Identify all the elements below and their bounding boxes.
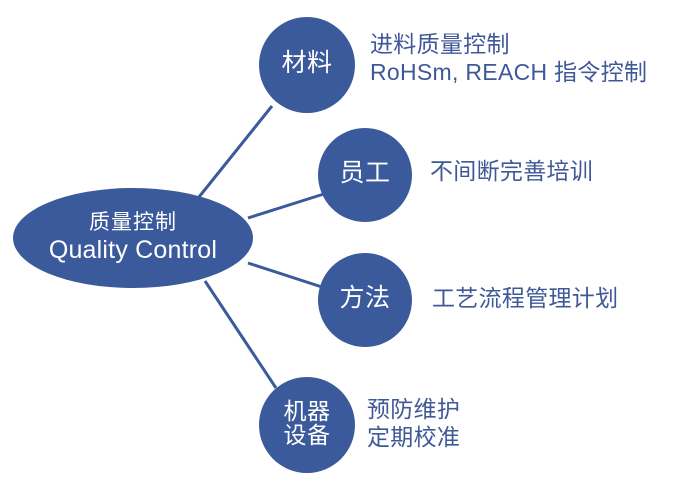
branch-node-method[interactable] xyxy=(318,253,412,347)
mind-map-diagram: 质量控制 Quality Control 材料进料质量控制 RoHSm, REA… xyxy=(0,0,690,490)
connector-center-to-machine xyxy=(205,281,276,388)
node-shape-group xyxy=(13,17,412,473)
center-node-shape[interactable] xyxy=(13,188,253,288)
branch-node-materials[interactable] xyxy=(259,17,355,113)
branch-node-staff[interactable] xyxy=(318,128,412,222)
diagram-canvas xyxy=(0,0,690,490)
connector-center-to-materials xyxy=(199,106,272,197)
connector-center-to-method xyxy=(248,263,325,288)
branch-node-machine[interactable] xyxy=(259,377,355,473)
connector-center-to-staff xyxy=(248,193,327,218)
